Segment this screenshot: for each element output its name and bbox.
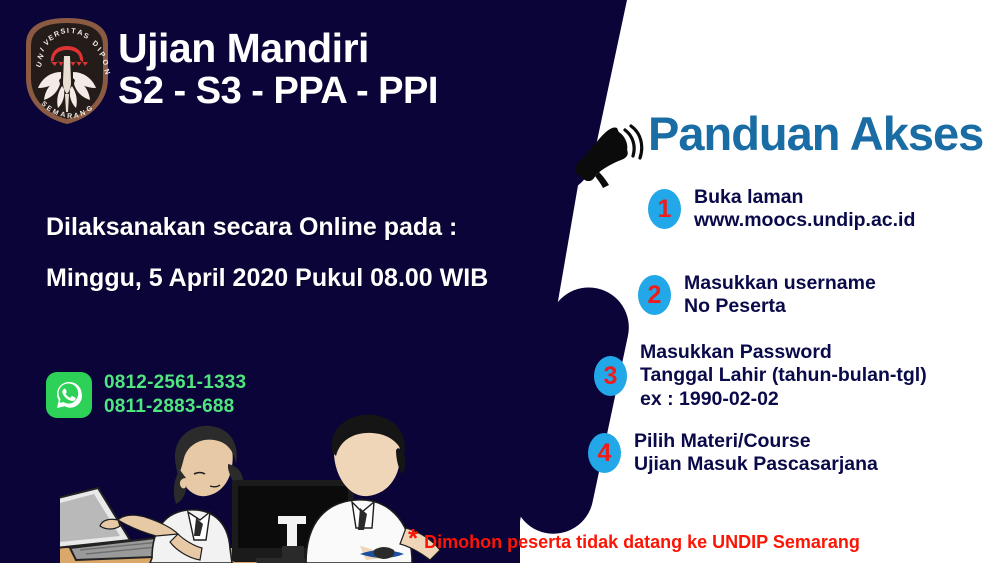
step-1-line-1: Buka laman [694,186,915,209]
asterisk-icon: * [408,528,418,548]
step-3-line-2: Tanggal Lahir (tahun-bulan-tgl) [640,364,927,387]
step-text-2: Masukkan username No Peserta [684,272,876,319]
step-text-1: Buka laman www.moocs.undip.ac.id [694,186,915,233]
step-3-line-1: Masukkan Password [640,341,927,364]
schedule-block: Dilaksanakan secara Online pada : Minggu… [46,212,488,293]
guide-step-3: 3 Masukkan Password Tanggal Lahir (tahun… [594,341,927,411]
step-badge-1: 1 [648,189,681,229]
step-4-line-1: Pilih Materi/Course [634,430,878,453]
step-2-line-2: No Peserta [684,295,876,318]
svg-text:A: A [73,112,79,120]
students-illustration [60,408,460,563]
guide-title: Panduan Akses [648,106,983,161]
schedule-line-4: Pukul 08.00 WIB [295,264,488,292]
step-text-3: Masukkan Password Tanggal Lahir (tahun-b… [640,341,927,411]
undip-logo: U N I V E R S I T A S D I P O N [18,16,116,126]
schedule-line-1: Dilaksanakan secara [46,213,292,241]
phone-number-1: 0812-2561-1333 [104,371,246,395]
step-text-4: Pilih Materi/Course Ujian Masuk Pascasar… [634,430,878,477]
schedule-line-3: Minggu, 5 April 2020 [46,264,288,292]
footer-warning-text: Dimohon peserta tidak datang ke UNDIP Se… [424,528,860,553]
step-2-line-1: Masukkan username [684,272,876,295]
step-1-line-2[interactable]: www.moocs.undip.ac.id [694,209,915,232]
poster-canvas: U N I V E R S I T A S D I P O N [0,0,1000,563]
step-badge-3: 3 [594,356,627,396]
title-line-2: S2 - S3 - PPA - PPI [118,72,438,110]
guide-step-1: 1 Buka laman www.moocs.undip.ac.id [648,186,915,233]
guide-step-4: 4 Pilih Materi/Course Ujian Masuk Pascas… [588,430,878,477]
schedule-spacer [46,243,488,263]
step-3-line-3: ex : 1990-02-02 [640,388,927,411]
poster-title: Ujian Mandiri S2 - S3 - PPA - PPI [118,28,438,110]
footer-warning: * Dimohon peserta tidak datang ke UNDIP … [408,528,860,553]
step-badge-2: 2 [638,275,671,315]
step-badge-4: 4 [588,433,621,473]
title-line-1: Ujian Mandiri [118,28,438,69]
svg-text:R: R [67,113,72,120]
megaphone-icon [573,124,645,190]
schedule-line-2: Online pada : [299,213,457,241]
guide-step-2: 2 Masukkan username No Peserta [638,272,876,319]
step-4-line-2: Ujian Masuk Pascasarjana [634,453,878,476]
